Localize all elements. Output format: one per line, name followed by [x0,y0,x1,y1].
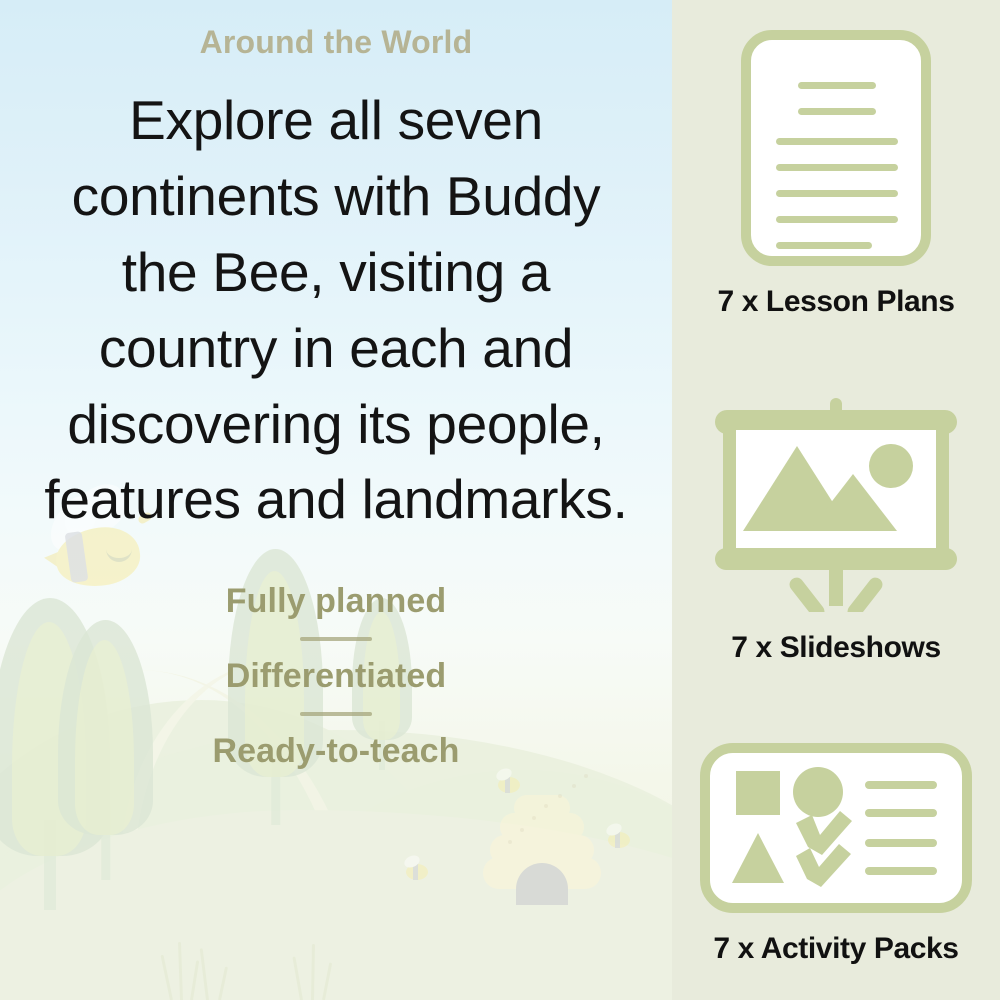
tagline-block: Fully planned Differentiated Ready-to-te… [0,582,672,771]
left-content: Around the World Explore all seven conti… [0,0,672,1000]
tagline-divider [300,712,372,716]
feature-label-slideshows: 7 x Slideshows [731,631,940,665]
promo-graphic: Around the World Explore all seven conti… [0,0,1000,1000]
kicker-title: Around the World [200,24,473,61]
feature-slideshows: 7 x Slideshows [701,398,971,665]
left-panel: Around the World Explore all seven conti… [0,0,672,1000]
tagline-fully-planned: Fully planned [226,582,446,621]
feature-label-lesson-plans: 7 x Lesson Plans [717,285,954,319]
activity-card-icon [700,743,972,918]
tagline-divider [300,637,372,641]
lede-paragraph: Explore all seven continents with Buddy … [36,83,636,538]
feature-label-activity-packs: 7 x Activity Packs [713,932,958,966]
tagline-ready-to-teach: Ready-to-teach [212,732,459,771]
feature-lesson-plans: 7 x Lesson Plans [717,30,954,319]
features-panel: 7 x Lesson Plans [672,0,1000,1000]
tagline-differentiated: Differentiated [226,657,447,696]
feature-activity-packs: 7 x Activity Packs [700,743,972,966]
document-icon [741,30,931,271]
presentation-screen-icon [701,398,971,617]
